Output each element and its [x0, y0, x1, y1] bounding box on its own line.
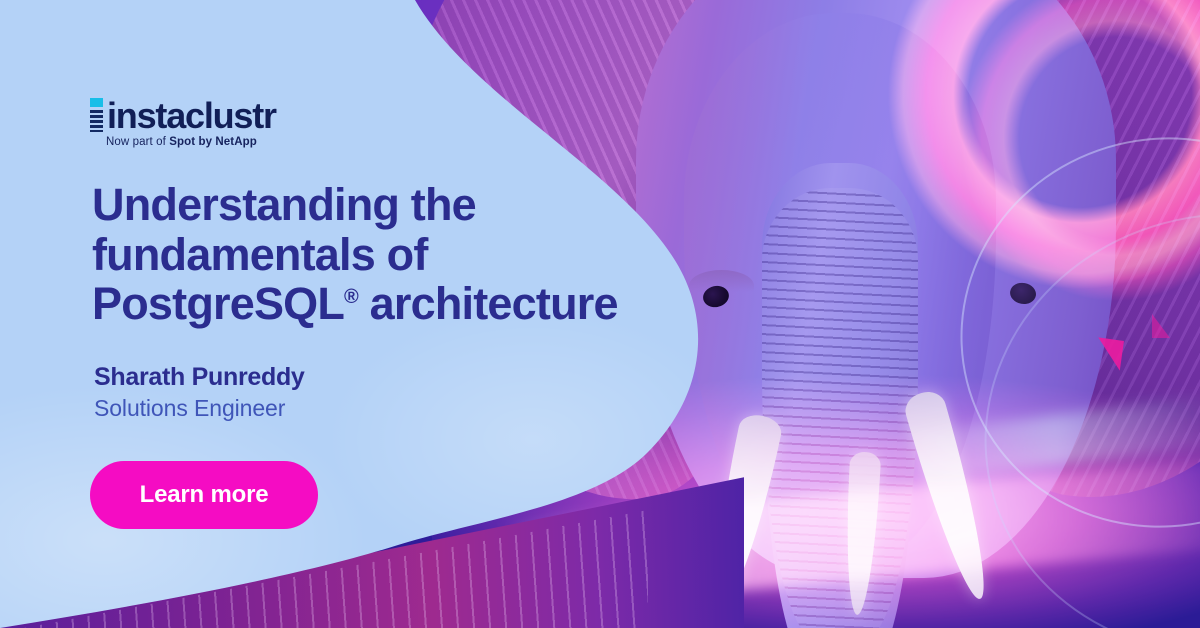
- headline-line-3-tail: architecture: [358, 278, 618, 329]
- logo-tagline: Now part of Spot by NetApp: [106, 136, 276, 148]
- logo-wordmark-row: instaclustr: [90, 98, 276, 132]
- magenta-triangle-primary: [1094, 337, 1124, 370]
- logo-text: instaclustr: [107, 99, 276, 132]
- speaker-byline: Sharath Punreddy Solutions Engineer: [94, 362, 305, 424]
- logo-tagline-prefix: Now part of: [106, 136, 169, 148]
- learn-more-button[interactable]: Learn more: [90, 461, 318, 529]
- headline-line-3-product: PostgreSQL: [92, 278, 344, 329]
- headline-line-1: Understanding the: [92, 179, 476, 230]
- magenta-triangle-secondary: [1152, 314, 1170, 338]
- logo-tagline-bold: Spot by NetApp: [169, 136, 257, 148]
- instaclustr-i-mark-icon: [90, 98, 104, 132]
- panel-content: instaclustr Now part of Spot by NetApp U…: [0, 0, 740, 628]
- promo-banner: instaclustr Now part of Spot by NetApp U…: [0, 0, 1200, 628]
- logo-bars-icon: [90, 110, 103, 132]
- headline-line-2: fundamentals of: [92, 229, 428, 280]
- page-title: Understanding the fundamentals of Postgr…: [92, 180, 652, 329]
- logo-dot-icon: [90, 98, 103, 107]
- instaclustr-logo[interactable]: instaclustr Now part of Spot by NetApp: [90, 98, 276, 148]
- registered-trademark-icon: ®: [344, 286, 358, 308]
- speaker-role: Solutions Engineer: [94, 394, 305, 424]
- speaker-name: Sharath Punreddy: [94, 362, 305, 393]
